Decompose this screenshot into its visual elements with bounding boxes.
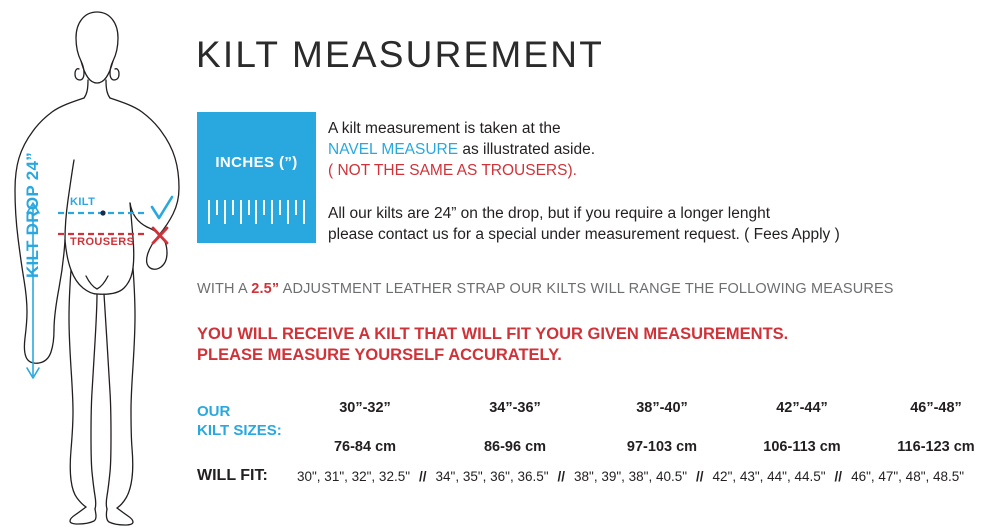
drop-paragraph-line2: please contact us for a special under me… [328,224,840,245]
strap-line-after: ADJUSTMENT LEATHER STRAP OUR KILTS WILL … [279,281,893,297]
size-column-5: 46”-48” 116-123 cm [861,400,1000,455]
page-title: KILT MEASUREMENT [196,34,604,76]
size-inches: 42”-44” [727,400,877,416]
kilt-drop-label: KILT DROP 24” [23,130,43,300]
size-cm: 97-103 cm [587,439,737,455]
size-inches: 30”-32” [290,400,440,416]
accuracy-warning-line2: PLEASE MEASURE YOURSELF ACCURATELY. [197,345,788,366]
will-fit-group-5: 46", 47", 48", 48.5" [851,469,964,484]
size-column-2: 34”-36” 86-96 cm [440,400,590,455]
will-fit-values: 30", 31", 32", 32.5" // 34", 35", 36", 3… [297,469,964,484]
accuracy-warning: YOU WILL RECEIVE A KILT THAT WILL FIT YO… [197,324,788,366]
navel-paragraph-line2: NAVEL MEASURE as illustrated aside. [328,139,595,160]
size-table-row-label-line1: OUR [197,402,282,421]
will-fit-separator: // [549,469,575,484]
size-table-row-label: OUR KILT SIZES: [197,402,282,440]
strap-range-line: WITH A 2.5” ADJUSTMENT LEATHER STRAP OUR… [197,281,894,297]
will-fit-group-1: 30", 31", 32", 32.5" [297,469,410,484]
inches-callout-box: INCHES (”) [197,112,316,243]
size-table: OUR KILT SIZES: 30”-32” 76-84 cm 34”-36”… [196,400,1000,495]
drop-paragraph-line1: All our kilts are 24” on the drop, but i… [328,203,840,224]
will-fit-label: WILL FIT: [197,467,268,485]
cross-mark-icon [153,228,167,243]
navel-measure-emphasis: NAVEL MEASURE [328,141,458,158]
size-inches: 46”-48” [861,400,1000,416]
kilt-line-label: KILT [70,196,95,208]
strap-adjustment-value: 2.5” [251,281,279,297]
size-cm: 86-96 cm [440,439,590,455]
size-column-3: 38”-40” 97-103 cm [587,400,737,455]
body-figure-illustration: KILT TROUSERS KILT DROP 24” [0,0,195,531]
size-cm: 116-123 cm [861,439,1000,455]
content-area: KILT MEASUREMENT INCHES (”) A kilt measu… [196,0,1000,531]
size-column-4: 42”-44” 106-113 cm [727,400,877,455]
strap-line-before: WITH A [197,281,251,297]
will-fit-group-2: 34", 35", 36", 36.5" [436,469,549,484]
not-trousers-note: ( NOT THE SAME AS TROUSERS). [328,160,595,181]
size-cm: 106-113 cm [727,439,877,455]
size-column-1: 30”-32” 76-84 cm [290,400,440,455]
size-table-row-label-line2: KILT SIZES: [197,421,282,440]
navel-paragraph: A kilt measurement is taken at the NAVEL… [328,118,595,181]
will-fit-row: WILL FIT: 30", 31", 32", 32.5" // 34", 3… [197,466,1000,490]
check-mark-icon [152,197,172,218]
will-fit-separator: // [826,469,852,484]
drop-paragraph: All our kilts are 24” on the drop, but i… [328,203,840,245]
will-fit-group-4: 42", 43", 44", 44.5" [713,469,826,484]
ruler-graphic [208,200,305,226]
inches-label: INCHES (”) [197,154,316,171]
navel-point [100,210,105,215]
size-cm: 76-84 cm [290,439,440,455]
will-fit-separator: // [687,469,713,484]
size-inches: 34”-36” [440,400,590,416]
kilt-measurement-guide: KILT TROUSERS KILT DROP 24” KILT MEASURE… [0,0,1000,531]
will-fit-group-3: 38", 39", 38", 40.5" [574,469,687,484]
accuracy-warning-line1: YOU WILL RECEIVE A KILT THAT WILL FIT YO… [197,324,788,345]
trousers-line-label: TROUSERS [70,236,134,248]
navel-paragraph-line2-rest: as illustrated aside. [458,141,595,158]
size-inches: 38”-40” [587,400,737,416]
will-fit-separator: // [410,469,436,484]
navel-paragraph-line1: A kilt measurement is taken at the [328,118,595,139]
